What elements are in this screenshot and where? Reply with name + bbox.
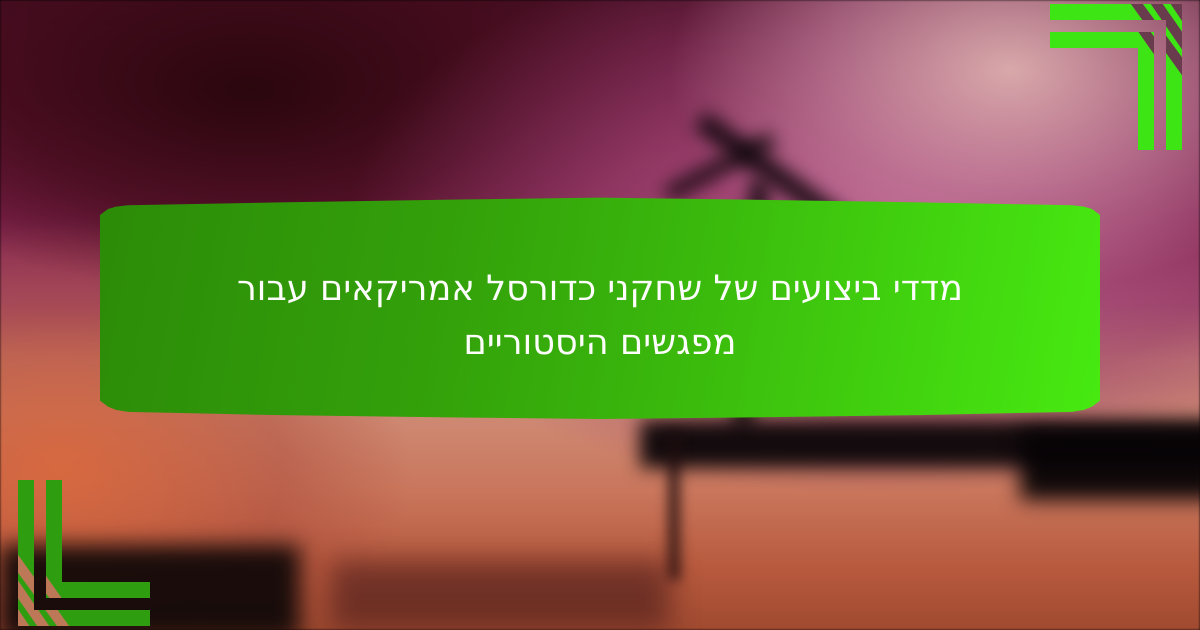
rocks-silhouette bbox=[330, 560, 670, 630]
headline-banner: מדדי ביצועים של שחקני כדורסל אמריקאים עב… bbox=[100, 190, 1100, 428]
treeline-silhouette bbox=[0, 545, 300, 630]
page-title: מדדי ביצועים של שחקני כדורסל אמריקאים עב… bbox=[200, 248, 1000, 371]
pole-silhouette bbox=[668, 430, 680, 580]
poster-canvas: מדדי ביצועים של שחקני כדורסל אמריקאים עב… bbox=[0, 0, 1200, 630]
banner-text-area: מדדי ביצועים של שחקני כדורסל אמריקאים עב… bbox=[100, 190, 1100, 428]
right-dark-mass-silhouette bbox=[1020, 430, 1200, 500]
